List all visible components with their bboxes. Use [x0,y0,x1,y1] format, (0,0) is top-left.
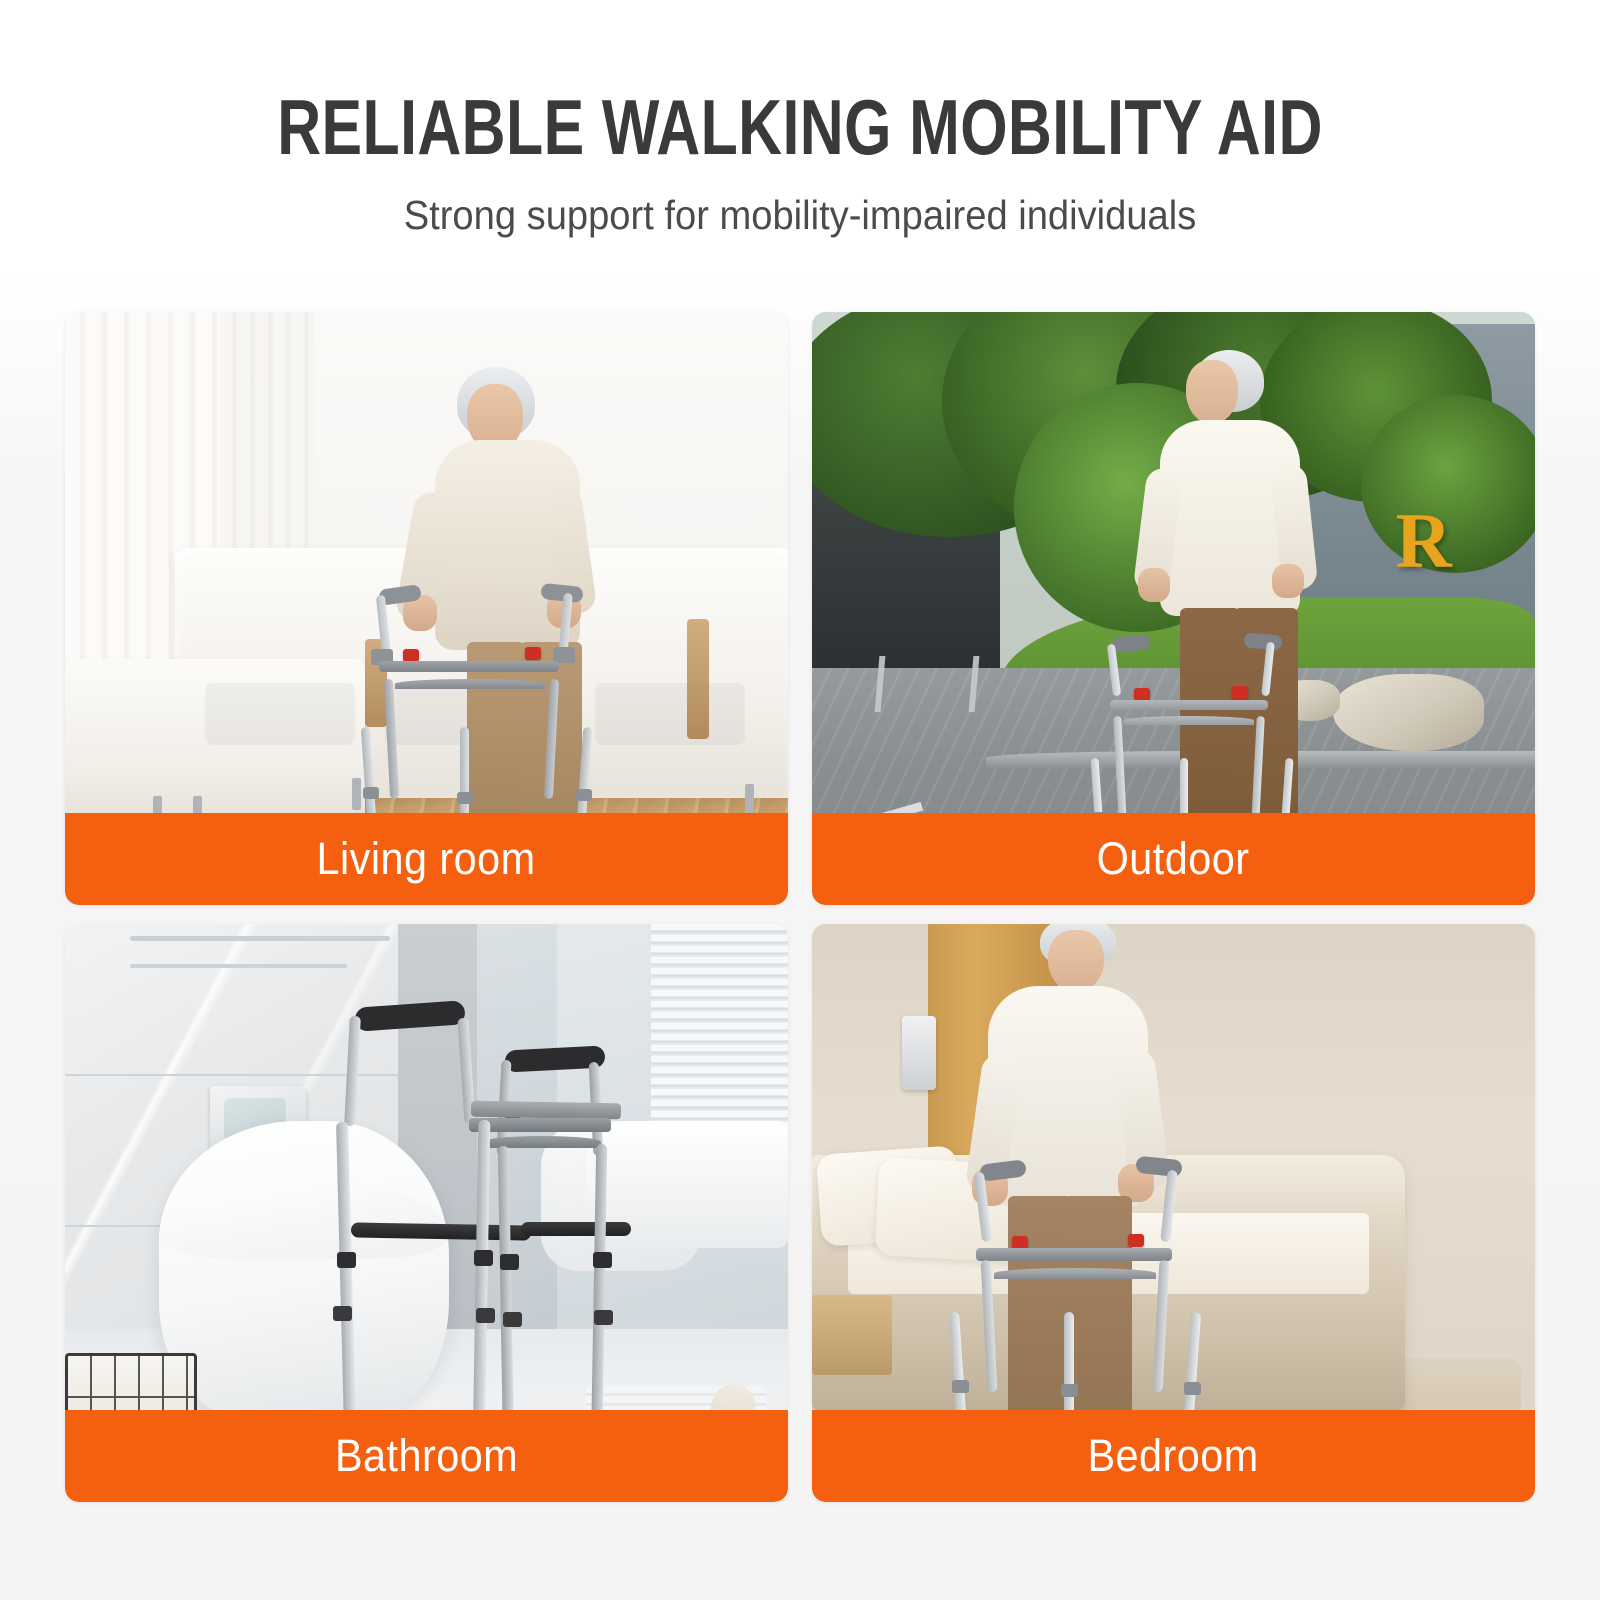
page-title: RELIABLE WALKING MOBILITY AID [176,88,1424,166]
front-upright-left [1113,716,1127,824]
front-upright-right [544,679,559,799]
height-collar [337,1252,356,1268]
height-collar [363,787,379,799]
caption-label: Living room [317,833,536,885]
crossbar-rear [471,1101,621,1120]
caption-bar-bathroom: Bathroom [65,1410,788,1502]
page-subtitle: Strong support for mobility-impaired ind… [56,192,1544,239]
door-hardware[interactable] [902,1016,936,1090]
furniture-leg [352,778,361,810]
height-collar [1184,1382,1201,1395]
release-button-right[interactable] [1232,686,1248,699]
garden-letter-sign: R [1396,496,1452,586]
handgrip-right [1243,632,1282,650]
caption-bar-outdoor: Outdoor [812,813,1535,905]
nightstand [812,1295,892,1375]
caption-label: Bedroom [1088,1430,1259,1482]
upper-tube-front-left [344,1016,361,1126]
face [1186,360,1238,424]
hand-left [1138,568,1170,602]
crossbar-arch [994,1268,1156,1279]
crossbar-top [1110,700,1268,710]
height-collar [457,792,473,804]
upper-tube-left [974,1172,992,1243]
sofa-cushion [595,683,745,745]
towel-rail [130,964,347,968]
bike-rack [875,656,980,712]
height-collar [333,1306,352,1321]
scene-card-living-room[interactable]: Living room [65,312,788,905]
handgrip-left [979,1159,1027,1181]
upper-tube-right [1261,642,1275,697]
handgrip-right [540,583,583,603]
upper-tube-right [1160,1170,1177,1243]
crossbar-arch [1124,716,1254,725]
sofa-cushion [205,683,355,745]
sofa-strap [687,619,709,739]
height-collar [500,1254,519,1270]
height-collar [576,789,592,801]
front-upright-left [981,1260,998,1392]
handgrip-front-left [354,1000,465,1032]
crossbar-rear-dark [521,1222,631,1236]
header-block: RELIABLE WALKING MOBILITY AID Strong sup… [0,0,1600,239]
height-collar [594,1310,613,1325]
caption-label: Outdoor [1097,833,1250,885]
furniture-leg [745,784,754,816]
height-collar [474,1250,493,1266]
caption-bar-bedroom: Bedroom [812,1410,1535,1502]
release-button-right[interactable] [1128,1234,1144,1247]
folding-bracket [469,1118,611,1132]
caption-bar-living-room: Living room [65,813,788,905]
handgrip-left [1111,634,1150,653]
crossbar-arch [395,679,545,689]
height-collar [952,1380,969,1393]
scene-card-outdoor[interactable]: R [812,312,1535,905]
crossbar-top [379,661,559,672]
towel-rail [130,936,390,941]
decorative-rock [1333,674,1485,751]
front-upright-right [1153,1260,1170,1392]
scene-card-bedroom[interactable]: Bedroom [812,924,1535,1502]
scene-card-bathroom[interactable]: Bathroom [65,924,788,1502]
height-collar [476,1308,495,1323]
crossbar-top [976,1248,1172,1261]
caption-label: Bathroom [335,1430,518,1482]
release-button-right[interactable] [525,647,541,660]
height-collar [593,1252,612,1268]
height-collar [503,1312,522,1327]
hand-right [1272,564,1304,598]
height-collar [1061,1384,1078,1397]
scene-card-grid: Living room R [65,312,1535,1502]
front-upright-left [384,679,399,799]
front-upright-right [1251,716,1265,824]
face [1048,930,1104,992]
